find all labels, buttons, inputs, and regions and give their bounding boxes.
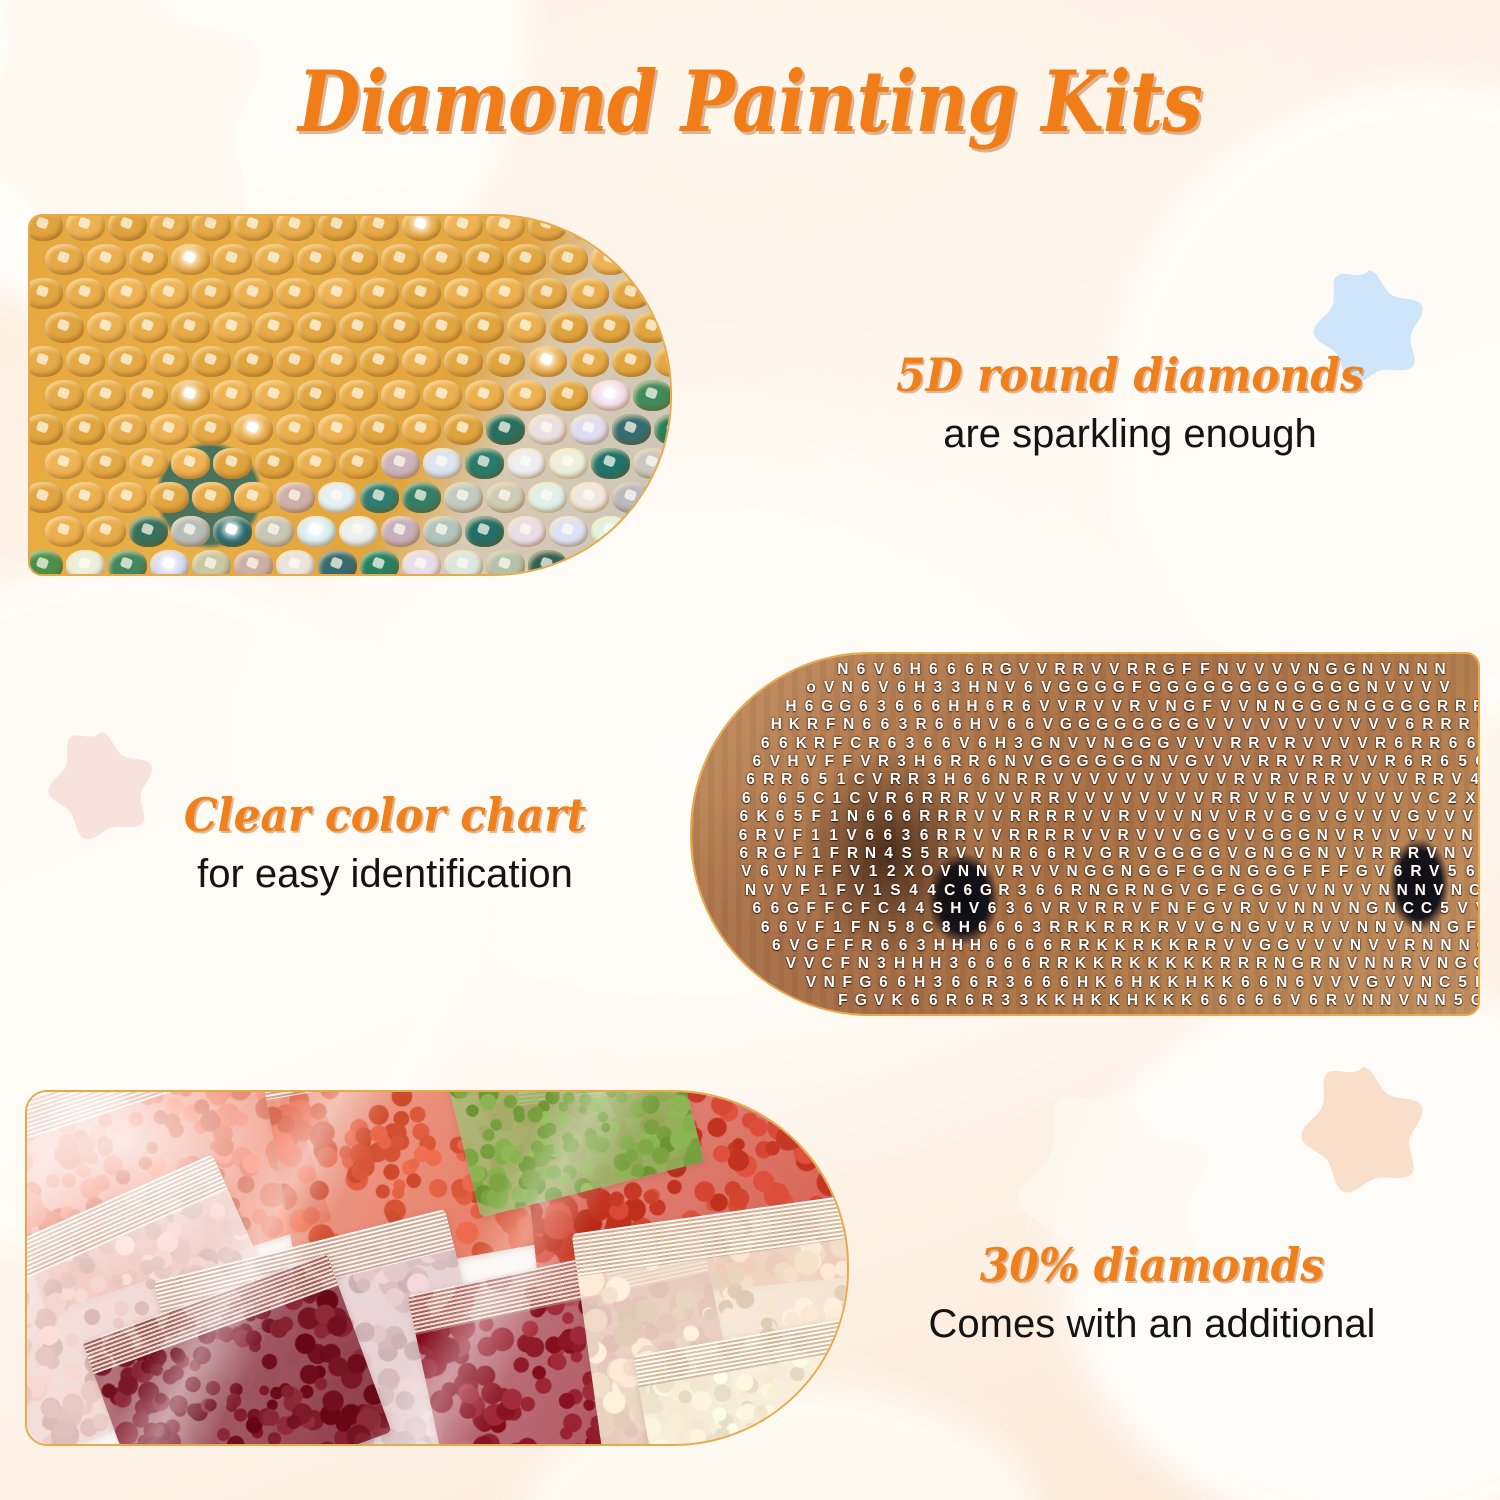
symbol-cell: 6 — [737, 791, 755, 807]
bead-facet — [372, 216, 386, 229]
bead-facet — [36, 556, 50, 569]
symbol-cell: V — [1350, 846, 1368, 862]
symbol-cell: V — [1274, 717, 1292, 733]
bead-facet — [288, 216, 302, 229]
symbol-cell: F — [829, 736, 847, 752]
symbol-cell: R — [1307, 956, 1325, 972]
symbol-cell: V — [785, 938, 803, 954]
bead-facet — [288, 352, 302, 365]
symbol-cell: N — [1325, 956, 1343, 972]
symbol-cell: R — [965, 754, 983, 770]
symbol-cell: V — [1224, 846, 1242, 862]
diamond-bead — [486, 414, 525, 445]
symbol-cell: G — [1415, 699, 1433, 715]
symbol-cell: C — [846, 791, 864, 807]
symbol-cell: S — [886, 883, 904, 899]
symbol-cell: N — [1408, 920, 1426, 936]
symbol-cell: V — [1417, 680, 1435, 696]
symbol-cell: G — [1037, 754, 1055, 770]
symbol-cell: V — [1078, 828, 1096, 844]
symbol-cell: V — [1291, 754, 1309, 770]
symbol-cell: V — [1341, 993, 1359, 1009]
bead-facet — [456, 352, 470, 365]
diamond-bead — [654, 214, 672, 241]
symbol-cell: R — [1470, 699, 1480, 715]
bead-facet — [225, 250, 239, 263]
diamond-bead — [465, 380, 504, 411]
bead-facet — [393, 318, 407, 331]
bead-facet — [183, 454, 197, 467]
bead-facet — [435, 386, 449, 399]
symbol-cell: R — [843, 846, 861, 862]
bead-facet — [99, 318, 113, 331]
diamond-bead — [234, 214, 273, 241]
symbol-cell: V — [737, 864, 755, 880]
diamond-bead — [465, 516, 504, 547]
symbol-cell: H — [948, 938, 966, 954]
bead-facet — [393, 454, 407, 467]
symbol-cell: R — [778, 772, 796, 788]
symbol-cell: V — [1285, 883, 1303, 899]
bead-facet — [330, 216, 344, 229]
bead-facet — [141, 386, 155, 399]
symbol-cell: G — [1205, 846, 1223, 862]
symbol-cell: R — [1115, 846, 1133, 862]
diamond-bead — [45, 380, 84, 411]
bead-facet — [246, 216, 260, 229]
symbol-cell: 6 — [893, 975, 911, 991]
bead-facet — [498, 556, 512, 569]
bead-facet — [498, 216, 512, 229]
symbol-cell: K — [1072, 956, 1090, 972]
symbol-cell: G — [1074, 680, 1092, 696]
diamond-bead — [591, 448, 630, 479]
bead-facet — [330, 352, 344, 365]
symbol-cell: G — [1190, 864, 1208, 880]
symbol-cell: 6 — [766, 901, 784, 917]
symbol-cell: 6 — [800, 699, 818, 715]
symbol-cell: V — [1262, 791, 1280, 807]
diamond-bead — [402, 482, 441, 513]
bead-facet — [540, 284, 554, 297]
diamond-bead — [276, 278, 315, 309]
symbol-cell: R — [1303, 772, 1321, 788]
symbol-cell: G — [1104, 883, 1122, 899]
diamond-bead — [171, 312, 210, 343]
symbol-cell: 6 — [862, 809, 880, 825]
diamond-bead — [150, 482, 189, 513]
symbol-cell: 6 — [1436, 754, 1454, 770]
symbol-cell: V — [1063, 791, 1081, 807]
symbol-cell: V — [1172, 791, 1190, 807]
symbol-cell: V — [936, 864, 954, 880]
symbol-cell: V — [1205, 809, 1223, 825]
symbol-cell: N — [854, 956, 872, 972]
feature-caption-extra-diamonds: 30% diamonds Comes with an additional — [872, 1238, 1432, 1347]
symbol-cell: V — [1347, 717, 1365, 733]
diamond-bead — [129, 516, 168, 547]
diamond-bead — [633, 244, 672, 275]
symbol-cell: F — [822, 717, 840, 733]
diamond-bead — [150, 346, 189, 377]
symbol-cell: G — [1230, 883, 1248, 899]
feature-subline: are sparkling enough — [830, 412, 1430, 457]
symbol-cell: 6 — [1055, 975, 1073, 991]
symbol-cell: V — [1263, 920, 1281, 936]
bead-facet — [540, 216, 554, 229]
symbol-cell: G — [1323, 662, 1341, 678]
symbol-cell: F — [836, 956, 854, 972]
diamond-bead — [402, 550, 441, 576]
diamond-bead — [486, 214, 525, 241]
symbol-cell: 6 — [1250, 993, 1268, 1009]
bead-facet — [36, 284, 50, 297]
symbol-cell: V — [1168, 828, 1186, 844]
bead-facet — [57, 522, 71, 535]
symbol-cell: C — [1473, 938, 1480, 954]
symbol-cell: F — [788, 828, 806, 844]
diamond-bead — [402, 414, 441, 445]
symbol-cell: R — [1255, 754, 1273, 770]
bead-facet — [582, 420, 596, 433]
symbol-cell: V — [969, 828, 987, 844]
symbol-cell: V — [1407, 791, 1425, 807]
symbol-cell: N — [1291, 901, 1309, 917]
diamond-bead — [276, 414, 315, 445]
symbol-cell: K — [1111, 938, 1129, 954]
symbol-cell: V — [1292, 938, 1310, 954]
diamond-bead — [528, 278, 567, 309]
symbol-cell: V — [846, 864, 864, 880]
symbol-cell: V — [1085, 772, 1103, 788]
diamond-bead — [486, 346, 525, 377]
symbol-cell: C — [847, 736, 865, 752]
bead-facet — [162, 420, 176, 433]
symbol-cell: G — [1200, 680, 1218, 696]
diamond-bead — [234, 414, 273, 445]
bead-facet — [645, 522, 659, 535]
symbol-cell: 6 — [1304, 993, 1322, 1009]
symbol-cell: R — [1013, 772, 1031, 788]
symbol-cell: R — [1024, 828, 1042, 844]
symbol-row: N6V6H666RGVVRRVVRRGFFNVVVVNGGNVNNN — [692, 662, 1478, 680]
diamond-bead — [66, 346, 105, 377]
symbol-cell: V — [1140, 772, 1158, 788]
bead-facet — [162, 216, 176, 229]
symbol-cell: N — [983, 680, 1001, 696]
bead-facet — [99, 522, 113, 535]
symbol-cell: V — [1422, 828, 1440, 844]
symbol-cell: 1 — [864, 864, 882, 880]
bead-facet — [540, 420, 554, 433]
symbol-cell: F — [807, 809, 825, 825]
diamond-bead — [129, 312, 168, 343]
symbol-cell: 3 — [1028, 920, 1046, 936]
symbol-cell: V — [1454, 901, 1472, 917]
diamond-bead — [444, 414, 483, 445]
symbol-cell: 6 — [942, 662, 960, 678]
symbol-cell: H — [1128, 975, 1146, 991]
symbol-cell: 6 — [906, 993, 924, 1009]
symbol-cell: N — [1419, 938, 1437, 954]
bead-facet — [330, 556, 344, 569]
bead-facet — [162, 556, 176, 569]
symbol-cell: V — [1345, 975, 1363, 991]
symbol-cell: G — [1136, 864, 1154, 880]
symbol-cell: V — [1395, 993, 1413, 1009]
symbol-cell: V — [770, 828, 788, 844]
diamond-bead — [591, 516, 630, 547]
symbol-cell: V — [1423, 809, 1441, 825]
diamond-bead — [318, 550, 357, 576]
symbol-cell: 5 — [1449, 993, 1467, 1009]
symbol-cell: N — [1354, 920, 1372, 936]
symbol-cell: G — [1296, 809, 1314, 825]
symbol-cell: R — [874, 754, 892, 770]
symbol-cell: V — [1232, 662, 1250, 678]
symbol-cell: V — [1079, 809, 1097, 825]
symbol-cell: R — [916, 809, 934, 825]
symbol-cell: N — [1431, 662, 1449, 678]
symbol-cell: N — [1413, 993, 1431, 1009]
symbol-cell: N — [1381, 901, 1399, 917]
symbol-cell: 6 — [756, 736, 774, 752]
bead-facet — [582, 352, 596, 365]
symbol-cell: 6 — [1196, 993, 1214, 1009]
symbol-cell: G — [1278, 846, 1296, 862]
symbol-cell: V — [987, 828, 1005, 844]
symbol-cell: G — [1182, 754, 1200, 770]
bead-facet — [477, 318, 491, 331]
symbol-cell: N — [1085, 883, 1103, 899]
bead-facet — [540, 488, 554, 501]
symbol-cell: F — [1335, 864, 1353, 880]
symbol-cell: 6 — [1010, 920, 1028, 936]
symbol-cell: V — [1144, 699, 1162, 715]
diamond-bead — [528, 414, 567, 445]
symbol-cell: G — [1274, 938, 1292, 954]
symbol-cell: V — [1404, 828, 1422, 844]
symbol-cell: 6 — [961, 662, 979, 678]
symbol-cell: F — [820, 901, 838, 917]
diamond-bead — [591, 312, 630, 343]
symbol-cell: R — [1368, 846, 1386, 862]
symbol-cell: H — [945, 699, 963, 715]
symbol-cell: 6 — [874, 975, 892, 991]
symbol-cell: G — [1295, 828, 1313, 844]
symbol-cell: C — [874, 901, 892, 917]
symbol-cell: V — [1064, 736, 1082, 752]
bead-facet — [267, 318, 281, 331]
symbol-cell: V — [1285, 772, 1303, 788]
diamond-bead — [66, 482, 105, 513]
symbol-cell: V — [955, 736, 973, 752]
diamond-bead — [297, 516, 336, 547]
symbol-cell: V — [1236, 754, 1254, 770]
bead-facet — [456, 488, 470, 501]
symbol-cell: G — [1200, 901, 1218, 917]
symbol-cell: R — [1417, 754, 1435, 770]
symbol-cell: R — [1115, 809, 1133, 825]
symbol-cell: G — [1278, 809, 1296, 825]
bead-facet — [162, 352, 176, 365]
symbol-cell: H — [782, 699, 800, 715]
symbol-cell: N — [1164, 901, 1182, 917]
symbol-cell: V — [1377, 662, 1395, 678]
symbol-cell: 6 — [854, 699, 872, 715]
diamond-bead — [150, 414, 189, 445]
diamond-bead — [654, 278, 672, 309]
symbol-cell: 6 — [755, 791, 773, 807]
symbol-cell: V — [1190, 791, 1208, 807]
symbol-cell: G — [1158, 883, 1176, 899]
symbol-cell: 3 — [1013, 883, 1031, 899]
symbol-cell: R — [811, 736, 829, 752]
symbol-cell: R — [1114, 828, 1132, 844]
symbol-cell: 6 — [888, 662, 906, 678]
symbol-cell: 6 — [891, 699, 909, 715]
symbol-cell: G — [1332, 809, 1350, 825]
symbol-cell: G — [1184, 717, 1202, 733]
bead-facet — [204, 488, 218, 501]
bead-facet — [372, 284, 386, 297]
symbol-cell: 4 — [904, 883, 922, 899]
symbol-cell: K — [1218, 975, 1236, 991]
diamond-bead — [528, 346, 567, 377]
symbol-cell: G — [1289, 699, 1307, 715]
symbol-cell: V — [1256, 717, 1274, 733]
bead-facet — [267, 250, 281, 263]
symbol-cell: V — [1328, 717, 1346, 733]
symbol-cell: F — [1198, 699, 1216, 715]
symbol-cell: G — [1194, 883, 1212, 899]
diamond-bead — [171, 448, 210, 479]
symbol-cell: N — [1426, 920, 1444, 936]
bead-facet — [204, 420, 218, 433]
symbol-cell: R — [1321, 772, 1339, 788]
symbol-cell: V — [1327, 975, 1345, 991]
symbol-cell: R — [1245, 736, 1263, 752]
bead-facet — [351, 522, 365, 535]
symbol-row: 6RVF11V6636RRVVRRRRVVRVVVGGVVGGGNVRVVVVV… — [692, 828, 1478, 846]
symbol-cell: V — [1371, 791, 1389, 807]
symbol-cell: F — [832, 883, 850, 899]
bead-facet — [477, 454, 491, 467]
symbol-cell: 8 — [937, 920, 955, 936]
symbol-cell: R — [1349, 828, 1367, 844]
diamond-bead — [549, 312, 588, 343]
bead-facet — [624, 284, 638, 297]
symbol-cell: V — [1255, 901, 1273, 917]
symbol-cell: 3 — [1015, 993, 1033, 1009]
symbol-cell: 3 — [997, 993, 1015, 1009]
symbol-cell: 6 — [742, 772, 760, 788]
symbol-cell: V — [1133, 846, 1151, 862]
symbol-cell: 6 — [919, 736, 937, 752]
symbol-cell: R — [1184, 938, 1202, 954]
symbol-cell: V — [1363, 754, 1381, 770]
symbol-cell: 6 — [981, 699, 999, 715]
symbol-cell: 1 — [828, 791, 846, 807]
symbol-cell: R — [1006, 828, 1024, 844]
symbol-cell: 6 — [756, 920, 774, 936]
symbol-cell: G — [1110, 754, 1128, 770]
bead-facet — [351, 318, 365, 331]
symbol-cell: C — [1467, 993, 1480, 1009]
symbol-cell: R — [1061, 809, 1079, 825]
symbol-cell: V — [985, 717, 1003, 733]
symbol-cell: K — [1162, 956, 1180, 972]
symbol-cell: V — [1389, 791, 1407, 807]
symbol-cell: 3 — [945, 956, 963, 972]
symbol-cell: R — [1280, 791, 1298, 807]
diamond-bead — [171, 380, 210, 411]
bead-facet — [57, 454, 71, 467]
symbol-cell: 6 — [748, 901, 766, 917]
symbol-cell: G — [1075, 717, 1093, 733]
symbol-cell: G — [1055, 680, 1073, 696]
symbol-cell: R — [1092, 901, 1110, 917]
symbol-cell: K — [1147, 938, 1165, 954]
symbol-cell: 6 — [900, 791, 918, 807]
symbol-row: V6VNFFV12XOVNNVRVVNGGNGGFGGNGGGFFFGV6RV5… — [692, 864, 1478, 882]
diamond-bead — [150, 214, 189, 241]
symbol-cell: 6 — [1021, 938, 1039, 954]
diamond-bead — [570, 346, 609, 377]
bead-facet — [645, 250, 659, 263]
bead-facet — [624, 420, 638, 433]
symbol-cell: R — [752, 828, 770, 844]
symbol-cell: H — [911, 754, 929, 770]
symbol-cell: 6 — [983, 901, 1001, 917]
symbol-cell: R — [1437, 717, 1455, 733]
bead-facet — [204, 284, 218, 297]
diamond-bead — [276, 482, 315, 513]
symbol-cell: H — [906, 662, 924, 678]
diamond-bead — [486, 550, 525, 576]
diamond-bead — [129, 244, 168, 275]
symbol-cell: V — [760, 883, 778, 899]
diamond-bead — [507, 312, 546, 343]
symbol-cell: V — [1244, 791, 1262, 807]
symbol-cell: N — [1361, 956, 1379, 972]
symbol-cell: H — [1123, 993, 1141, 1009]
symbol-cell: R — [1429, 772, 1447, 788]
symbol-cell: V — [1238, 717, 1256, 733]
diamond-bead — [612, 278, 651, 309]
symbol-cell: R — [1035, 956, 1053, 972]
symbol-cell: G — [1273, 680, 1291, 696]
bead-facet — [561, 250, 575, 263]
symbol-cell: 4 — [911, 901, 929, 917]
symbol-cell: N — [843, 809, 861, 825]
symbol-cell: 6 — [879, 828, 897, 844]
symbol-cell: V — [802, 975, 820, 991]
symbol-cell: R — [933, 828, 951, 844]
bead-facet — [435, 250, 449, 263]
symbol-cell: N — [1434, 956, 1452, 972]
diamond-bead — [297, 380, 336, 411]
bead-facet — [204, 216, 218, 229]
symbol-cell: 1 — [829, 920, 847, 936]
diamond-bead — [129, 380, 168, 411]
symbol-cell: V — [1357, 772, 1375, 788]
symbol-cell: G — [1055, 754, 1073, 770]
symbol-cell: 5 — [814, 772, 832, 788]
symbol-cell: G — [1081, 864, 1099, 880]
symbol-cell: V — [1357, 883, 1375, 899]
symbol-cell: V — [1436, 680, 1454, 696]
